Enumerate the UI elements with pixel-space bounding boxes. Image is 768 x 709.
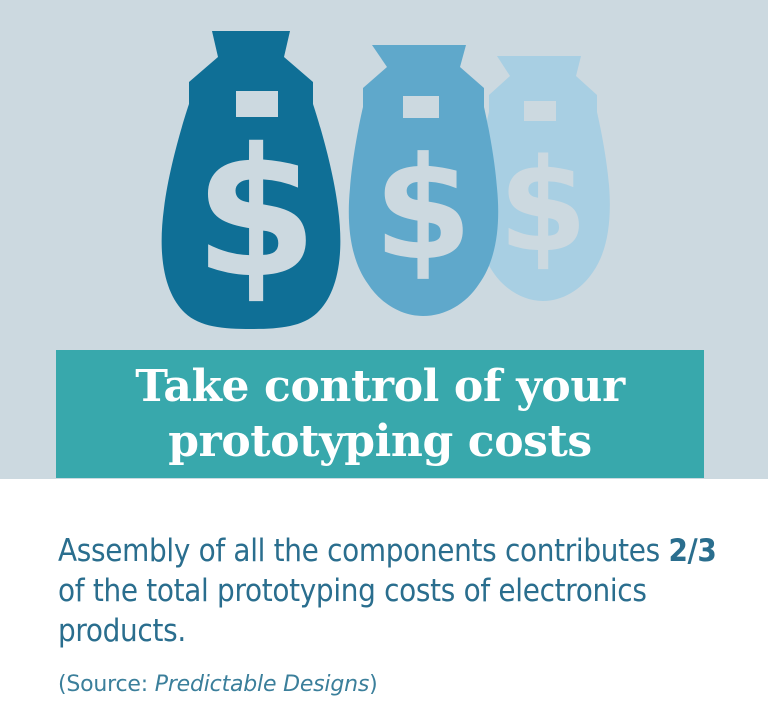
back-money-bag-icon: $ xyxy=(476,56,610,301)
headline-line-2: prototyping costs xyxy=(168,414,592,469)
source-title: Predictable Designs xyxy=(155,672,369,697)
middle-money-bag-icon: $ xyxy=(349,45,498,316)
body-copy-part-1: Assembly of all the components contribut… xyxy=(58,533,668,569)
body-copy-emphasis: 2/3 xyxy=(668,533,716,569)
source-attribution: (Source: Predictable Designs) xyxy=(58,670,378,700)
headline-banner: Take control of your prototyping costs xyxy=(56,350,704,478)
source-prefix: (Source: xyxy=(58,672,155,697)
body-copy: Assembly of all the components contribut… xyxy=(58,531,718,651)
headline-line-1: Take control of your xyxy=(135,359,625,414)
front-money-bag-icon: $ xyxy=(162,31,341,329)
svg-text:$: $ xyxy=(374,127,473,292)
source-suffix: ) xyxy=(369,672,377,697)
money-bags-illustration: $ $ $ xyxy=(0,0,768,350)
svg-text:$: $ xyxy=(498,132,587,281)
svg-text:$: $ xyxy=(194,110,318,317)
body-copy-part-2: of the total prototyping costs of electr… xyxy=(58,573,647,649)
prototyping-costs-infographic: $ $ $ Take control of your prototyping c… xyxy=(0,0,768,709)
